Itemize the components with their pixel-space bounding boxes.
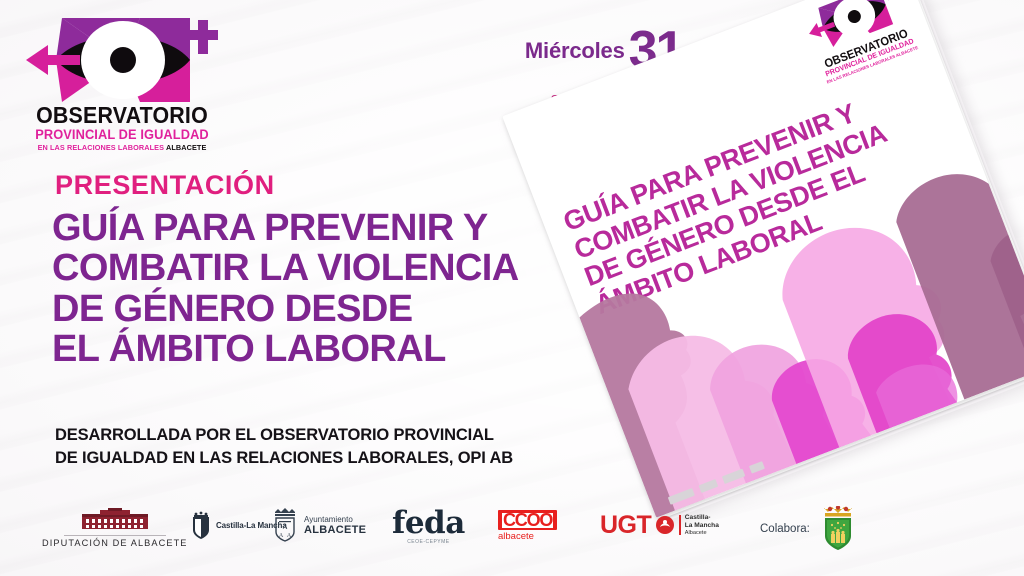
- ccoo-wordmark-icon: CCOO: [498, 510, 557, 530]
- partner-label-ayuntamiento-bottom: ALBACETE: [304, 524, 366, 536]
- partner-ccoo-albacete: CCOO albacete: [498, 510, 557, 542]
- green-crest-icon: [820, 506, 856, 552]
- ugt-sublabel-3: Albacete: [685, 530, 707, 537]
- ugt-divider: [679, 515, 681, 535]
- ugt-wordmark-icon: UGT: [600, 514, 651, 537]
- feda-wordmark-icon: feda: [392, 510, 465, 538]
- ugt-emblem-icon: [655, 515, 675, 535]
- logo-line3-albacete: ALBACETE: [166, 143, 206, 152]
- eye-gender-symbol-icon: [22, 14, 222, 106]
- developed-line-1: DESARROLLADA POR EL OBSERVATORIO PROVINC…: [55, 424, 635, 447]
- partner-logos-footer: DIPUTACIÓN DE ALBACETE Castilla-La Manch…: [0, 500, 1024, 570]
- observatorio-logo: OBSERVATORIO PROVINCIAL DE IGUALDAD EN L…: [22, 14, 222, 154]
- ccoo-sublabel: albacete: [498, 531, 534, 542]
- event-date-row: Miércoles 31 Enero: [470, 28, 760, 73]
- partner-feda: feda CEOE-CEPYME: [392, 510, 465, 545]
- event-time: 11:30 horas: [470, 78, 760, 93]
- title-line-3: DE GÉNERO DESDE: [52, 289, 612, 329]
- event-month: Enero: [686, 43, 760, 73]
- title-line-1: GUÍA PARA PREVENIR Y: [52, 208, 612, 248]
- partner-ayuntamiento-albacete: A A A Ayuntamiento ALBACETE: [272, 508, 366, 544]
- developed-line-2: DE IGUALDAD EN LAS RELACIONES LABORALES,…: [55, 447, 635, 470]
- collaborator-block: Colabora:: [760, 506, 856, 552]
- title-line-2: COMBATIR LA VIOLENCIA: [52, 248, 612, 288]
- event-date-block: Miércoles 31 Enero 11:30 horas Sala pren…: [470, 28, 760, 109]
- svg-text:A: A: [279, 533, 284, 539]
- developed-by-text: DESARROLLADA POR EL OBSERVATORIO PROVINC…: [55, 424, 635, 470]
- title-line-4: EL ÁMBITO LABORAL: [52, 329, 612, 369]
- ugt-sublabel-2: La Mancha: [685, 522, 719, 530]
- logo-line-relaciones: EN LAS RELACIONES LABORALES ALBACETE: [26, 143, 218, 153]
- partner-label-diputacion: DIPUTACIÓN DE ALBACETE: [42, 538, 188, 548]
- logo-line-provincial: PROVINCIAL DE IGUALDAD: [27, 127, 217, 143]
- svg-text:A: A: [287, 533, 292, 539]
- collaborator-label: Colabora:: [760, 523, 810, 535]
- logo-line3-pink: EN LAS RELACIONES LABORALES: [38, 143, 165, 152]
- ccoo-label: CCOO: [502, 513, 553, 528]
- kicker-presentacion: PRESENTACIÓN: [55, 170, 275, 201]
- partner-ugt-castilla-la-mancha: UGT Castilla- La Mancha Albacete: [600, 514, 719, 537]
- event-day-number: 31: [629, 28, 683, 73]
- building-icon: [78, 508, 152, 532]
- crest-icon: A A A: [272, 508, 298, 544]
- shield-icon: [192, 510, 210, 540]
- page-title: GUÍA PARA PREVENIR Y COMBATIR LA VIOLENC…: [52, 208, 612, 369]
- logo-line-observatorio: OBSERVATORIO: [29, 104, 215, 127]
- event-place: Sala prensa Diputación Albacete: [470, 94, 760, 109]
- feda-sublabel: CEOE-CEPYME: [407, 539, 449, 545]
- partner-label-ayuntamiento-top: Ayuntamiento: [304, 516, 353, 525]
- ugt-sublabel-1: Castilla-: [685, 514, 711, 522]
- partner-diputacion-albacete: DIPUTACIÓN DE ALBACETE: [42, 508, 188, 548]
- svg-text:A: A: [282, 523, 287, 531]
- event-day-name: Miércoles: [525, 40, 625, 73]
- diputacion-divider: [64, 535, 166, 536]
